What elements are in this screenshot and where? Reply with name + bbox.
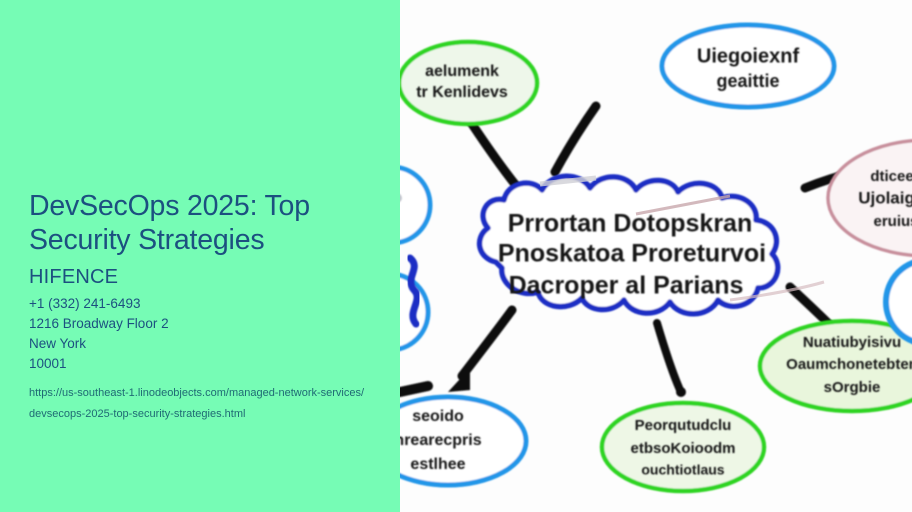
node-top-blue: Uiegoiexnf geaittie bbox=[662, 25, 834, 107]
cloud-text-line-1: Prrortan Dotopskran bbox=[508, 210, 752, 238]
source-url[interactable]: https://us-southeast-1.linodeobjects.com… bbox=[29, 383, 379, 425]
node-bottom-green-line-2: etbsoKoioodm bbox=[631, 440, 736, 457]
left-info-panel: DevSecOps 2025: Top Security Strategies … bbox=[0, 0, 400, 512]
node-bottom-green-line-1: Peorqutudclu bbox=[635, 417, 732, 434]
article-preview-card: DevSecOps 2025: Top Security Strategies … bbox=[0, 0, 912, 512]
node-top-left-green-line-2: tr Kenlidevs bbox=[416, 84, 508, 101]
brand-name: HIFENCE bbox=[29, 266, 379, 288]
arrow-head-bottom-green bbox=[676, 387, 686, 397]
node-bottom-left-blue-line-3: estlhee bbox=[410, 456, 465, 473]
mindmap-svg: Prrortan Dotopskran Pnoskatoa Proreturvo… bbox=[400, 0, 912, 512]
node-bottom-left-blue-line-2: nrearecpris bbox=[400, 432, 482, 449]
contact-street: 1216 Broadway Floor 2 bbox=[29, 314, 379, 334]
node-top-left-green-line-1: aelumenk bbox=[425, 63, 499, 80]
arrow-stub-left-edge bbox=[400, 386, 428, 392]
cloud-text-group: Prrortan Dotopskran Pnoskatoa Proreturvo… bbox=[498, 210, 766, 300]
decorative-blue-squiggle bbox=[410, 258, 417, 324]
cloud-text-line-3: Dacroper al Parians bbox=[509, 272, 744, 300]
node-bottom-left-blue-line-1: seoido bbox=[412, 408, 464, 425]
article-meta-block: DevSecOps 2025: Top Security Strategies … bbox=[29, 190, 379, 425]
central-cloud-node: Prrortan Dotopskran Pnoskatoa Proreturvo… bbox=[480, 176, 778, 314]
node-top-blue-line-2: geaittie bbox=[716, 71, 779, 91]
node-bottom-left-blue: seoido nrearecpris estlhee bbox=[400, 397, 526, 485]
node-top-left-green-shape bbox=[400, 42, 537, 124]
contact-zip: 10001 bbox=[29, 354, 379, 374]
source-url-line-1[interactable]: https://us-southeast-1.linodeobjects.com… bbox=[29, 383, 379, 404]
node-right-green: Nuatiubyisivu Oaumchonetebten sOrgbie bbox=[760, 321, 912, 411]
node-bottom-green: Peorqutudclu etbsoKoioodm ouchtiotlaus bbox=[602, 403, 764, 491]
node-top-left-green: aelumenk tr Kenlidevs bbox=[400, 42, 537, 124]
node-right-green-line-1: Nuatiubyisivu bbox=[803, 334, 901, 351]
source-url-line-2[interactable]: devsecops-2025-top-security-strategies.h… bbox=[29, 404, 379, 425]
node-top-blue-line-1: Uiegoiexnf bbox=[697, 45, 800, 67]
node-right-green-line-3: sOrgbie bbox=[824, 379, 881, 396]
node-right-green-line-2: Oaumchonetebten bbox=[786, 356, 912, 373]
cloud-text-line-2: Pnoskatoa Proreturvoi bbox=[498, 240, 766, 268]
node-right-pink-line-2: Ujolaigile bbox=[858, 188, 912, 207]
node-bottom-green-line-3: ouchtiotlaus bbox=[641, 462, 724, 478]
node-right-pink-line-3: eruius bbox=[873, 213, 912, 230]
page-title: DevSecOps 2025: Top Security Strategies bbox=[29, 190, 379, 257]
mindmap-illustration: Prrortan Dotopskran Pnoskatoa Proreturvo… bbox=[400, 0, 912, 512]
contact-phone: +1 (332) 241-6493 bbox=[29, 294, 379, 314]
contact-city: New York bbox=[29, 334, 379, 354]
node-right-pink-line-1: dticee bbox=[870, 168, 912, 185]
